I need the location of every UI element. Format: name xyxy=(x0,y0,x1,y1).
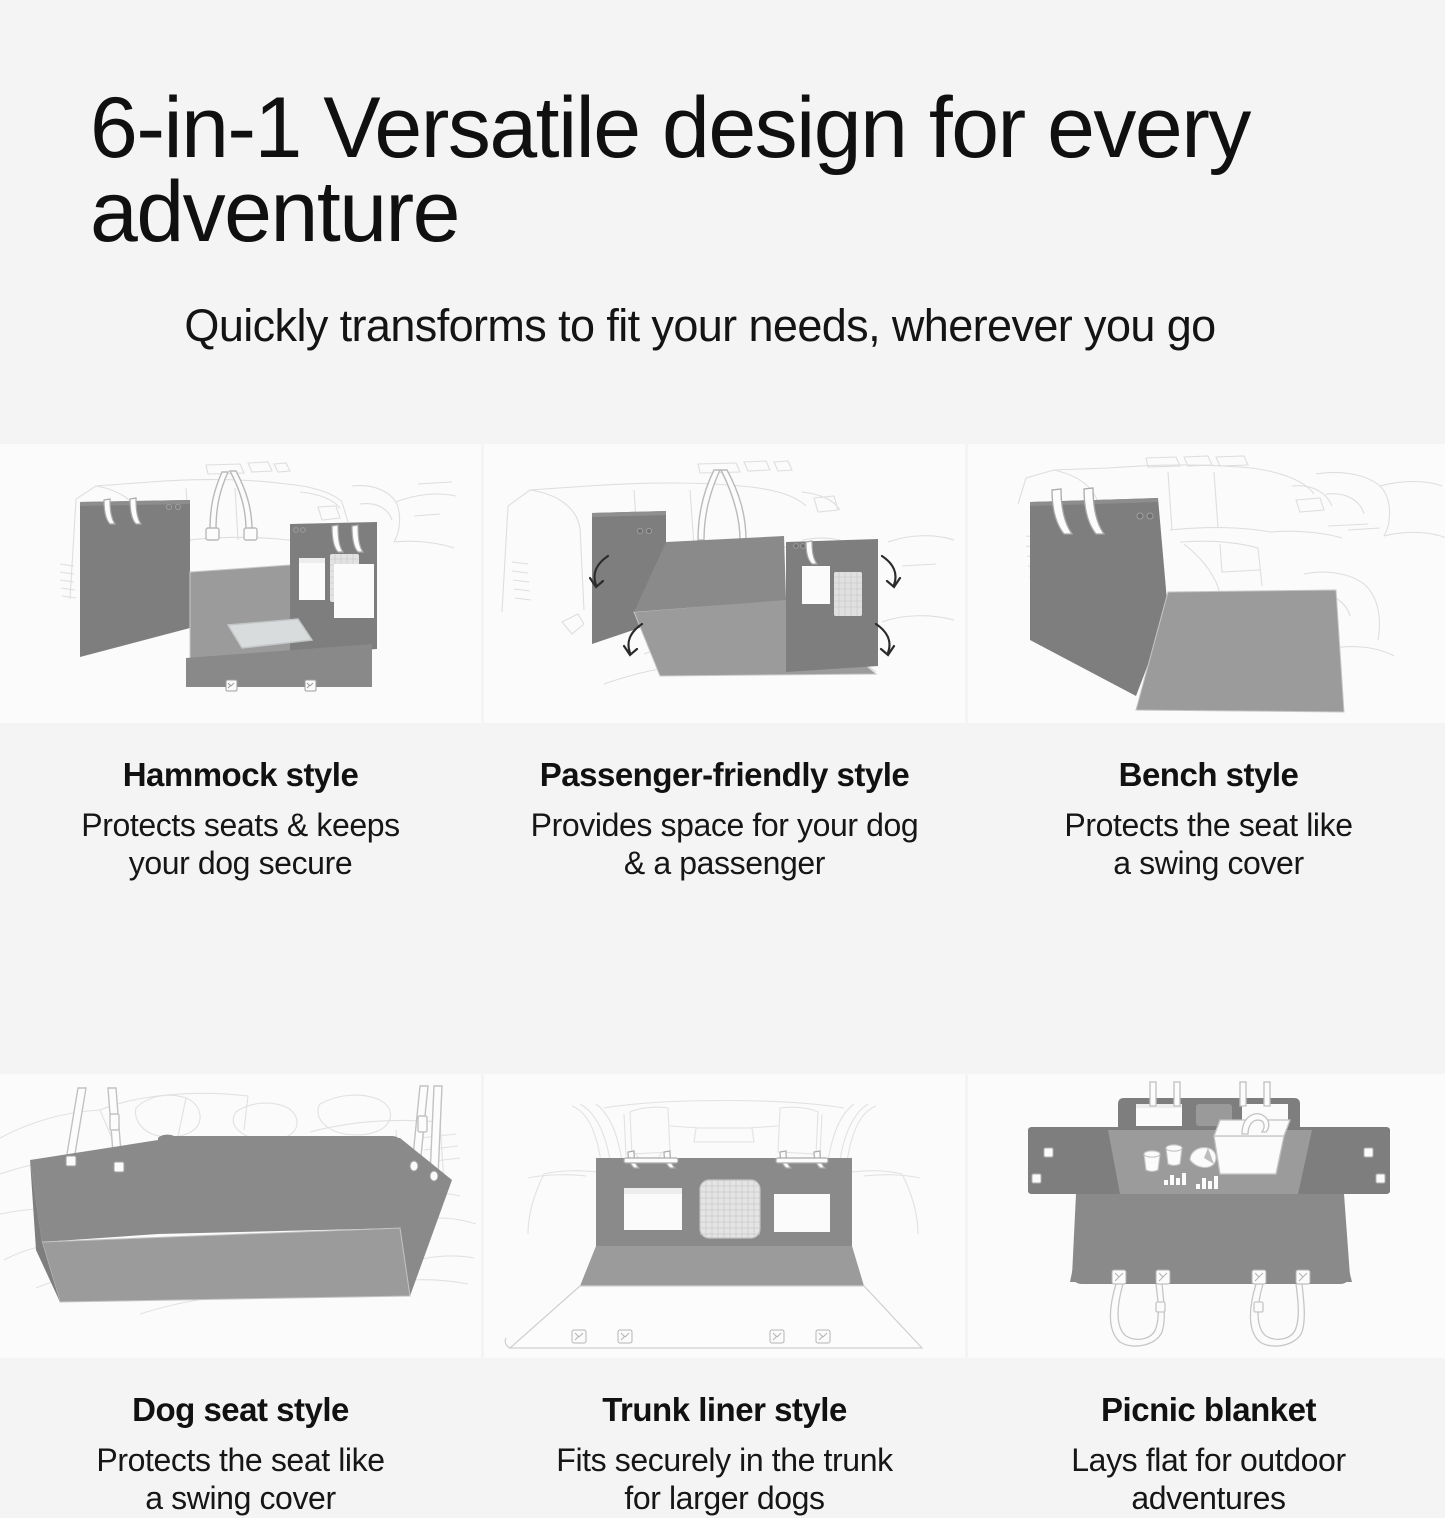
caption-title: Hammock style xyxy=(10,757,471,793)
feature-cell-picnic-blanket: Picnic blanket Lays flat for outdoor adv… xyxy=(968,1074,1445,1518)
header: 6-in-1 Versatile design for every advent… xyxy=(0,0,1445,350)
illustration-card-bench-style xyxy=(968,444,1445,723)
caption-description: Provides space for your dog & a passenge… xyxy=(494,807,955,883)
caption-title: Passenger-friendly style xyxy=(494,757,955,793)
bench-style-illustration xyxy=(968,444,1445,723)
picnic-blanket-illustration xyxy=(968,1074,1445,1358)
illustration-card-picnic-blanket xyxy=(968,1074,1445,1358)
caption-hammock-style: Hammock style Protects seats & keeps you… xyxy=(0,757,481,883)
passenger-friendly-style-illustration xyxy=(484,444,965,723)
caption-description: Protects the seat like a swing cover xyxy=(978,807,1439,883)
caption-picnic-blanket: Picnic blanket Lays flat for outdoor adv… xyxy=(968,1392,1445,1518)
illustration-card-hammock-style xyxy=(0,444,481,723)
feature-cell-trunk-liner-style: Trunk liner style Fits securely in the t… xyxy=(484,1074,965,1518)
caption-title: Dog seat style xyxy=(10,1392,471,1428)
caption-description: Lays flat for outdoor adventures xyxy=(978,1442,1439,1518)
caption-title: Trunk liner style xyxy=(494,1392,955,1428)
feature-grid: Hammock style Protects seats & keeps you… xyxy=(0,444,1445,1518)
page-subtitle: Quickly transforms to fit your needs, wh… xyxy=(90,301,1355,351)
illustration-card-passenger-friendly-style xyxy=(484,444,965,723)
caption-description: Protects the seat like a swing cover xyxy=(10,1442,471,1518)
illustration-card-dog-seat-style xyxy=(0,1074,481,1358)
illustration-card-trunk-liner-style xyxy=(484,1074,965,1358)
caption-description: Protects seats & keeps your dog secure xyxy=(10,807,471,883)
page-title: 6-in-1 Versatile design for every advent… xyxy=(90,86,1270,255)
feature-cell-hammock-style: Hammock style Protects seats & keeps you… xyxy=(0,444,481,883)
feature-row-2: Dog seat style Protects the seat like a … xyxy=(0,1074,1445,1518)
caption-bench-style: Bench style Protects the seat like a swi… xyxy=(968,757,1445,883)
feature-cell-passenger-friendly-style: Passenger-friendly style Provides space … xyxy=(484,444,965,883)
caption-dog-seat-style: Dog seat style Protects the seat like a … xyxy=(0,1392,481,1518)
feature-cell-dog-seat-style: Dog seat style Protects the seat like a … xyxy=(0,1074,481,1518)
caption-title: Bench style xyxy=(978,757,1439,793)
feature-row-1: Hammock style Protects seats & keeps you… xyxy=(0,444,1445,883)
trunk-liner-style-illustration xyxy=(484,1074,965,1358)
caption-title: Picnic blanket xyxy=(978,1392,1439,1428)
caption-description: Fits securely in the trunk for larger do… xyxy=(494,1442,955,1518)
hammock-style-illustration xyxy=(0,444,481,723)
caption-passenger-friendly-style: Passenger-friendly style Provides space … xyxy=(484,757,965,883)
dog-seat-style-illustration xyxy=(0,1074,481,1358)
infographic-page: 6-in-1 Versatile design for every advent… xyxy=(0,0,1445,1445)
feature-cell-bench-style: Bench style Protects the seat like a swi… xyxy=(968,444,1445,883)
caption-trunk-liner-style: Trunk liner style Fits securely in the t… xyxy=(484,1392,965,1518)
